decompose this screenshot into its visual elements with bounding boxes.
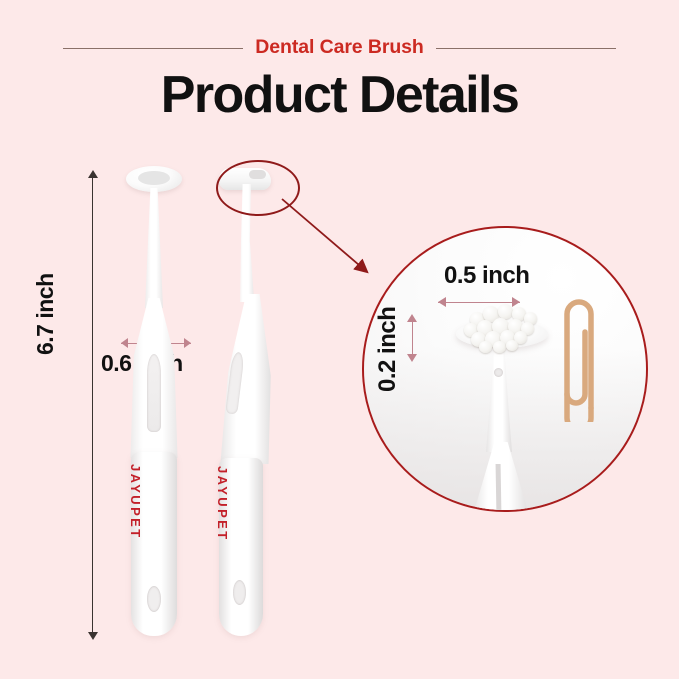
arrowhead-down-icon bbox=[88, 632, 98, 640]
eyebrow-text: Dental Care Brush bbox=[255, 38, 423, 58]
divider-line-right bbox=[436, 48, 616, 49]
head-height-dimension-arrow bbox=[407, 314, 419, 362]
zoom-brush-flare-split bbox=[496, 464, 502, 512]
callout-arrow-icon bbox=[280, 195, 390, 285]
brush-hang-hole bbox=[233, 580, 246, 605]
brush-grip-slot bbox=[147, 354, 161, 432]
head-width-dimension-arrow bbox=[438, 297, 520, 307]
brush-neck bbox=[145, 188, 163, 308]
brush-hang-hole bbox=[147, 586, 161, 612]
divider-line-left bbox=[63, 48, 243, 49]
arrowhead-right-icon bbox=[512, 297, 520, 307]
brush-curved-grip bbox=[217, 294, 273, 464]
brand-text-side: JAYUPET bbox=[215, 466, 230, 542]
zoom-brush-stem-dot bbox=[494, 368, 503, 377]
bristle-tuft bbox=[506, 340, 518, 351]
brand-text-front: JAYUPET bbox=[128, 464, 143, 540]
paperclip-icon bbox=[560, 290, 604, 422]
header-eyebrow-row: Dental Care Brush bbox=[0, 33, 679, 63]
length-dimension-arrow bbox=[86, 170, 100, 640]
toothbrush-front-view: JAYUPET bbox=[118, 166, 190, 636]
page-title: Product Details bbox=[0, 68, 679, 123]
bristle-tuft bbox=[493, 341, 506, 353]
toothbrush-side-view: JAYUPET bbox=[205, 166, 281, 636]
product-detail-image: Dental Care Brush Product Details 6.7 in… bbox=[0, 0, 679, 679]
length-label: 6.7 inch bbox=[32, 273, 59, 355]
dimension-line bbox=[92, 175, 93, 635]
head-height-label: 0.2 inch bbox=[374, 307, 402, 392]
dimension-line bbox=[412, 319, 413, 357]
dimension-line bbox=[438, 302, 520, 303]
head-width-label: 0.5 inch bbox=[444, 262, 529, 290]
arrowhead-down-icon bbox=[407, 354, 417, 362]
bristle-tuft bbox=[479, 341, 492, 353]
